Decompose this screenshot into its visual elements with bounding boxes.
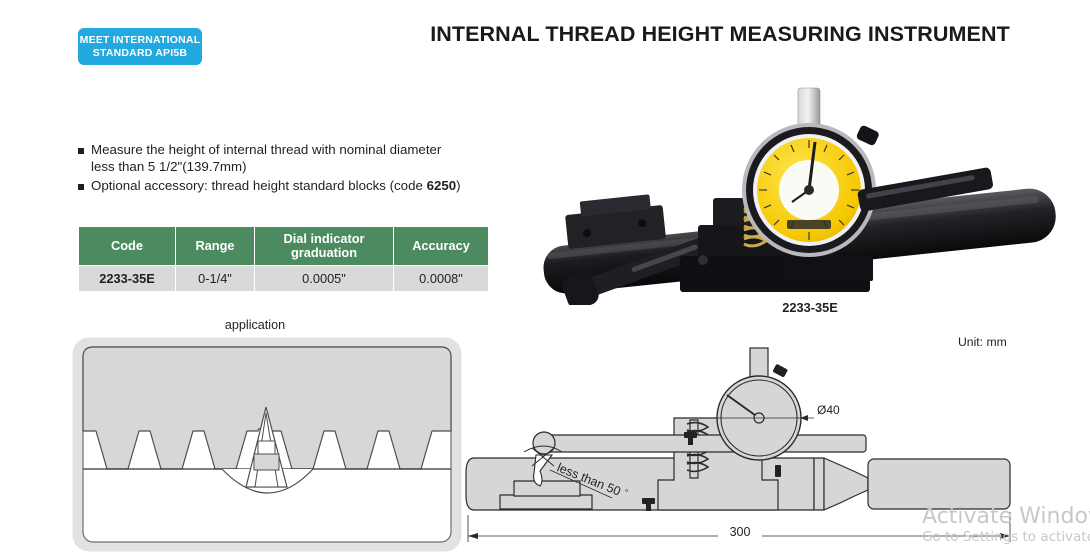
application-diagram-svg: [72, 337, 462, 552]
feature-line2: less than 5 1/2"(139.7mm): [91, 159, 247, 174]
page-title: INTERNAL THREAD HEIGHT MEASURING INSTRUM…: [400, 22, 1040, 47]
standard-badge-line2: STANDARD API5B: [93, 47, 187, 60]
overall-length-label: 300: [730, 525, 751, 539]
product-datasheet-page: MEET INTERNATIONAL STANDARD API5B INTERN…: [0, 0, 1090, 558]
feature-line1: Measure the height of internal thread wi…: [91, 142, 441, 157]
application-label: application: [70, 318, 440, 332]
column-header-graduation-line2: graduation: [291, 245, 357, 260]
application-diagram: [72, 337, 462, 557]
cell-graduation: 0.0005": [255, 266, 394, 292]
list-item: Optional accessory: thread height standa…: [78, 178, 518, 195]
feature-line2: ): [456, 178, 460, 193]
column-header-range: Range: [176, 227, 255, 266]
feature-line1: Optional accessory: thread height standa…: [91, 178, 427, 193]
list-item: Measure the height of internal thread wi…: [78, 142, 518, 175]
feature-text: Measure the height of internal thread wi…: [91, 142, 441, 175]
product-photo-svg: [528, 70, 1088, 305]
feature-text: Optional accessory: thread height standa…: [91, 178, 461, 195]
dial-diameter-label: Ø40: [817, 403, 840, 417]
column-header-graduation-line1: Dial indicator: [283, 231, 364, 246]
feature-list: Measure the height of internal thread wi…: [78, 142, 518, 198]
column-header-accuracy: Accuracy: [394, 227, 489, 266]
cell-code: 2233-35E: [79, 266, 176, 292]
spec-table: Code Range Dial indicator graduation Acc…: [78, 226, 489, 292]
bullet-square-icon: [78, 184, 84, 190]
cell-range: 0-1/4": [176, 266, 255, 292]
cell-accuracy: 0.0008": [394, 266, 489, 292]
table-row: 2233-35E 0-1/4" 0.0005" 0.0008": [79, 266, 489, 292]
feature-code: 6250: [427, 178, 457, 193]
product-caption: 2233-35E: [700, 300, 920, 315]
column-header-code: Code: [79, 227, 176, 266]
technical-drawing-svg: Ø40 less than 50 °: [462, 340, 1082, 555]
bullet-square-icon: [78, 148, 84, 154]
product-photo: [528, 70, 1088, 310]
standard-badge-line1: MEET INTERNATIONAL: [80, 34, 201, 47]
column-header-graduation: Dial indicator graduation: [255, 227, 394, 266]
technical-drawing: Ø40 less than 50 °: [462, 340, 1082, 560]
standard-badge: MEET INTERNATIONAL STANDARD API5B: [78, 28, 202, 65]
table-header-row: Code Range Dial indicator graduation Acc…: [79, 227, 489, 266]
